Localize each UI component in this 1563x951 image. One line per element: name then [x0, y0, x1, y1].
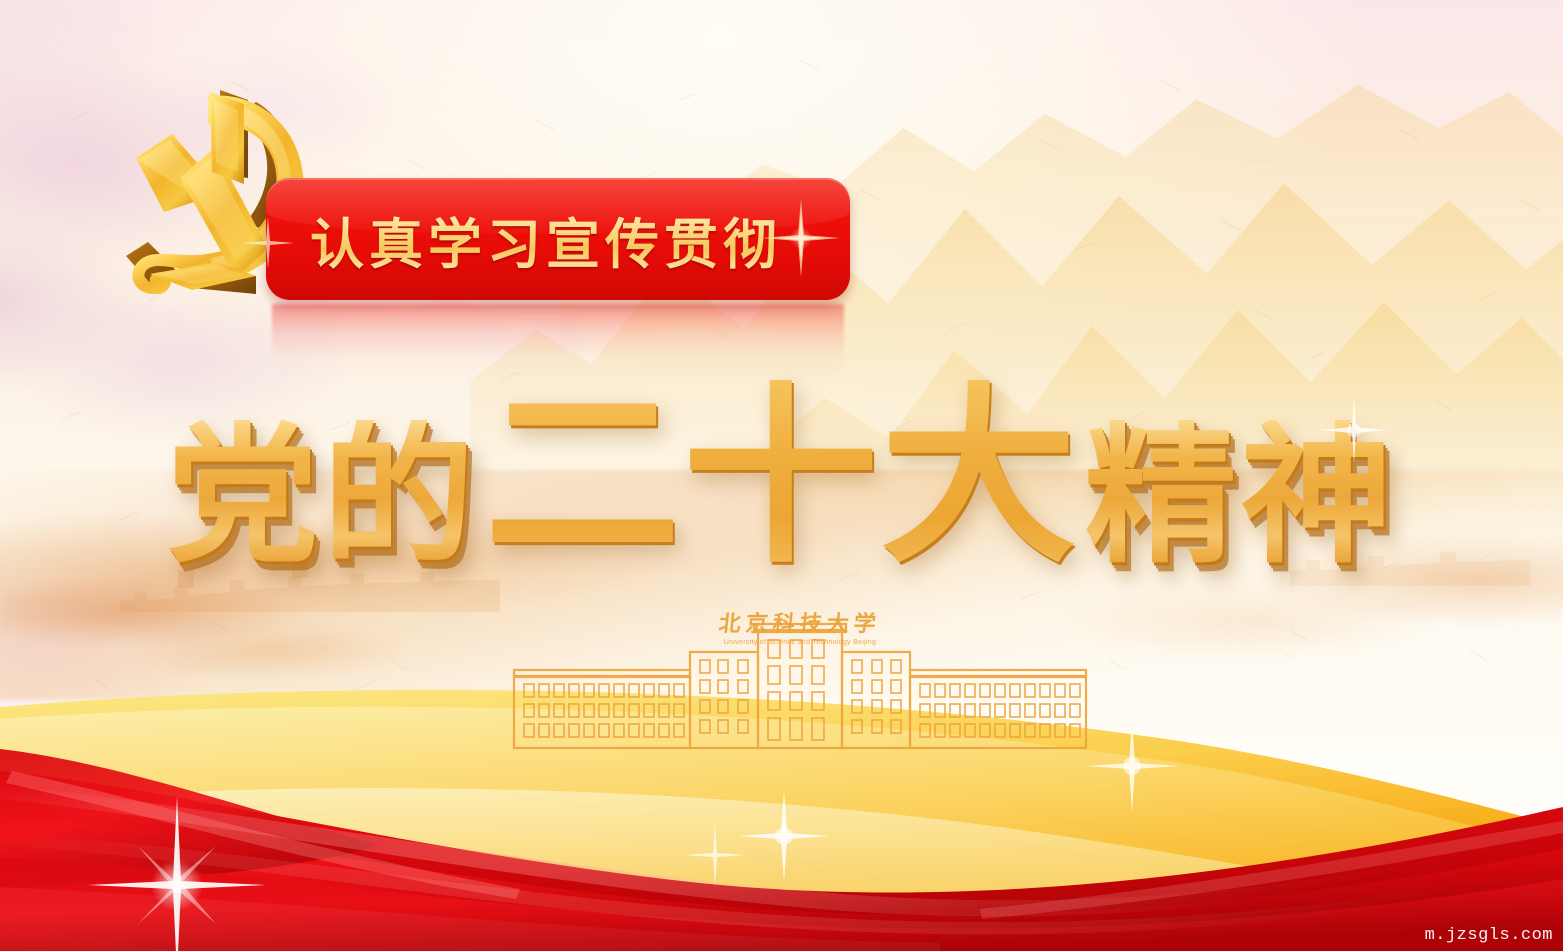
- banner-slogan-text: 认真学习宣传贯彻: [266, 178, 850, 300]
- title-segment-ershida: 二十大: [484, 380, 1078, 576]
- site-watermark: m.jzsgls.com: [1425, 926, 1553, 945]
- main-title: 党的二十大精神: [0, 398, 1563, 594]
- title-segment-jingshen: 精神: [1085, 420, 1397, 572]
- university-building-illustration: [510, 600, 1090, 760]
- banner-plate: 认真学习宣传贯彻: [266, 178, 850, 300]
- poster-canvas: 认真学习宣传贯彻 党的二十大精神: [0, 0, 1563, 951]
- title-segment-dangde: 党的: [166, 420, 478, 572]
- banner-slogan: 认真学习宣传贯彻: [266, 178, 850, 300]
